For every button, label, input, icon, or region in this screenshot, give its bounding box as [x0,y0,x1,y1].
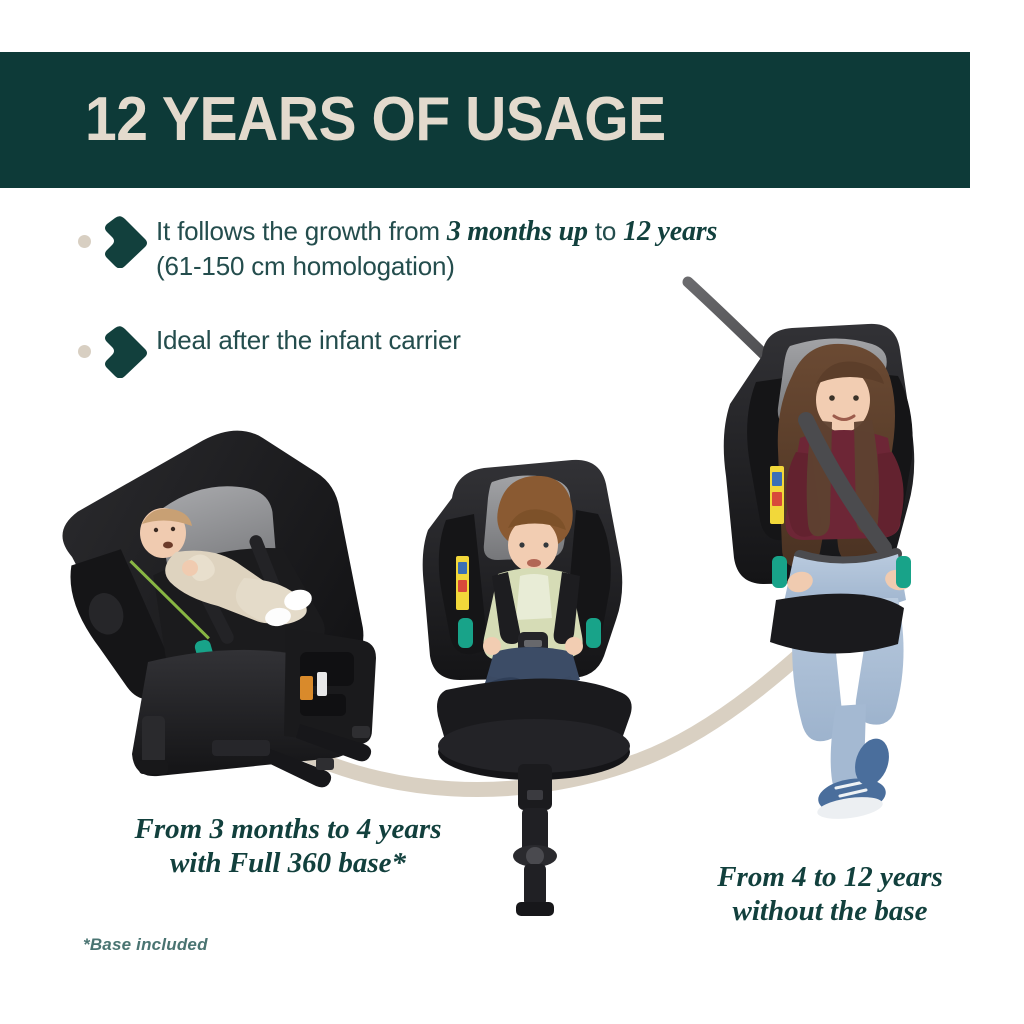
caption-left-figure: From 3 months to 4 years with Full 360 b… [88,812,488,880]
bullet-1-prefix: It follows the growth from [156,216,447,246]
bullet-1-emphasis-a: 3 months up [447,216,588,247]
header-banner: 12 YEARS OF USAGE [0,52,970,188]
bullet-1-mid: to [588,216,623,246]
bullet-text: Ideal after the infant carrier [156,324,461,358]
seatbelt-strap-chest [806,420,884,548]
figure-rear-facing-car-seat-with-infant [41,407,387,787]
bullet-1-emphasis-b: 12 years [623,216,717,247]
bullet-1-line2: (61-150 cm homologation) [156,251,455,281]
bullet-marker [78,216,148,268]
caption-right-figure: From 4 to 12 years without the base [660,860,1000,928]
bullet-2-text: Ideal after the infant carrier [156,325,461,355]
bullet-marker [78,326,148,378]
chevron-diamond-bullet-icon [93,216,148,268]
list-item: It follows the growth from 3 months up t… [0,214,900,284]
page-title: 12 YEARS OF USAGE [85,89,666,151]
footnote-base-included: *Base included [83,935,208,955]
bullet-text: It follows the growth from 3 months up t… [156,214,717,284]
chevron-diamond-bullet-icon [93,326,148,378]
bullet-dot-icon [78,345,91,358]
infographic-page: 12 YEARS OF USAGE It follows the growth … [0,0,1024,1024]
bullet-dot-icon [78,235,91,248]
bullet-list: It follows the growth from 3 months up t… [0,214,900,418]
list-item: Ideal after the infant carrier [0,324,900,378]
connector-swoosh [268,600,860,790]
full-360-base-left [132,628,376,787]
infant-figure [140,508,314,628]
toddler-figure [466,476,595,726]
